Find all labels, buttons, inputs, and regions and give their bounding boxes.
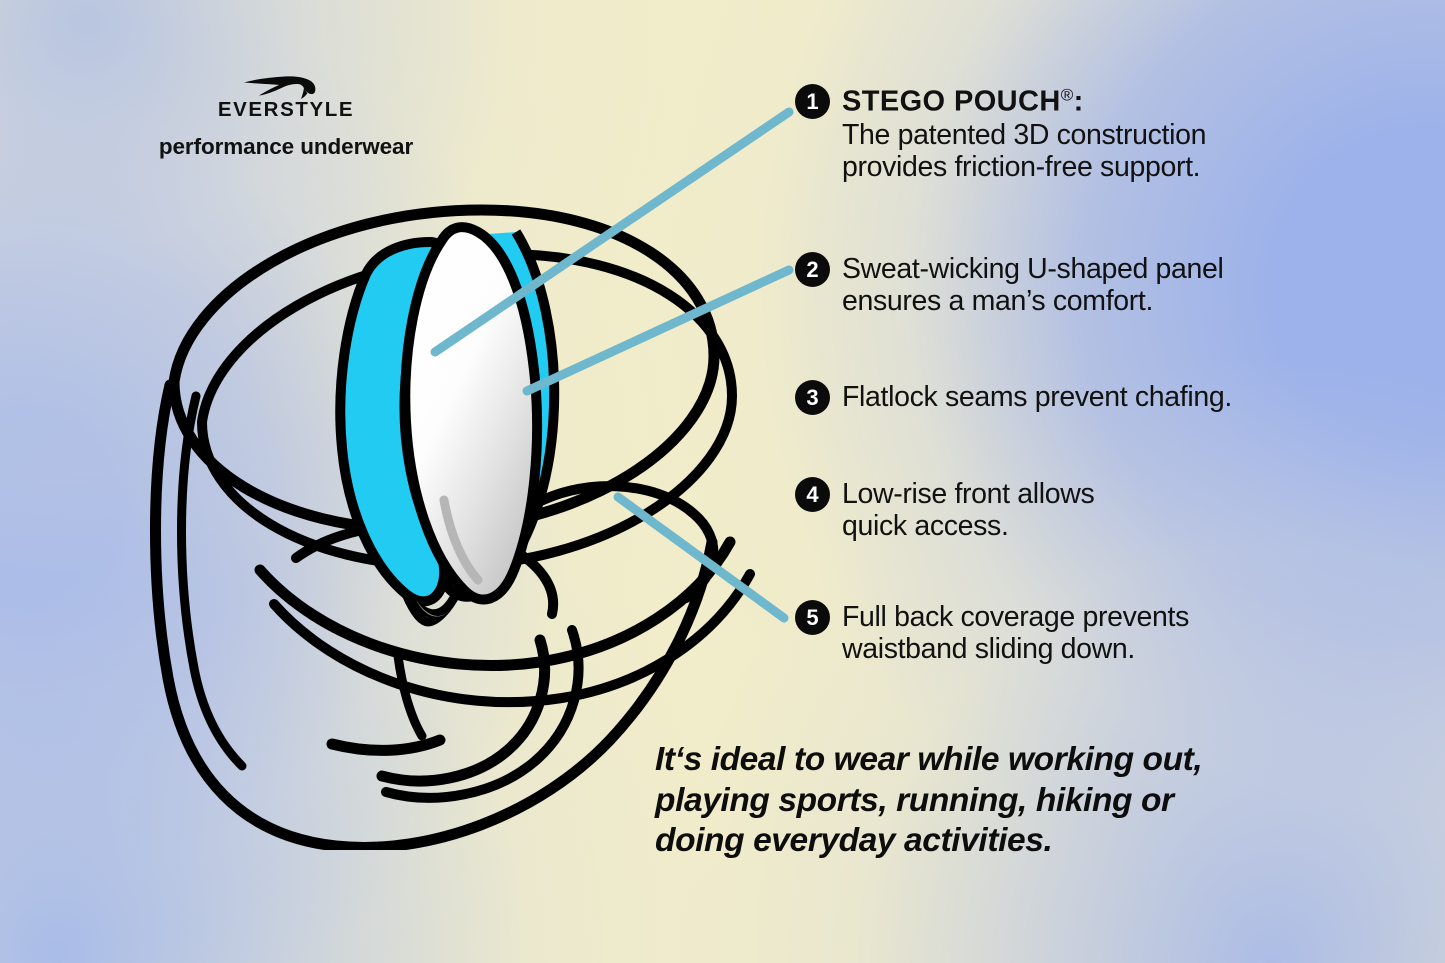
feature-badge-2: 2 [795,252,830,287]
infographic-canvas: EVERSTYLE performance underwear [0,0,1445,963]
feature-text-5: Full back coverage prevents waistband sl… [842,600,1189,666]
slogan-line: doing everyday activities. [655,821,1355,862]
center-seam [398,656,422,736]
brand-logo: EVERSTYLE performance underwear [151,72,421,158]
feature-badge-1: 1 [795,84,830,119]
feature-badge-5: 5 [795,600,830,635]
feature-title-1: STEGO POUCH [842,86,1061,118]
leg-opening-right [528,486,713,598]
feature-line: Full back coverage prevents [842,601,1189,633]
feature-line: Low-rise front allows [842,478,1094,510]
slogan-line: It‘s ideal to wear while working out, [655,740,1355,781]
feature-item-4: 4 Low-rise front allows quick access. [795,477,1094,543]
feature-title-colon-1: : [1074,86,1084,118]
feature-line: waistband sliding down. [842,633,1189,665]
feature-heading-1: STEGO POUCH®: [842,85,1206,119]
brand-name: EVERSTYLE [151,100,421,121]
feature-text-2: Sweat-wicking U-shaped panel ensures a m… [842,252,1224,318]
feature-line: Flatlock seams prevent chafing. [842,381,1232,413]
brand-tagline: performance underwear [151,136,421,159]
feature-item-1: 1 STEGO POUCH®: The patented 3D construc… [795,84,1206,184]
feature-line: ensures a man’s comfort. [842,285,1224,317]
feature-line: Sweat-wicking U-shaped panel [842,253,1224,285]
slogan-line: playing sports, running, hiking or [655,781,1355,822]
registered-trademark-icon: ® [1061,86,1074,118]
feature-badge-4: 4 [795,477,830,512]
feature-item-5: 5 Full back coverage prevents waistband … [795,600,1189,666]
feature-text-4: Low-rise front allows quick access. [842,477,1094,543]
feature-text-1: STEGO POUCH®: The patented 3D constructi… [842,84,1206,184]
feature-line: The patented 3D construction [842,119,1206,151]
feature-item-2: 2 Sweat-wicking U-shaped panel ensures a… [795,252,1224,318]
feature-line: quick access. [842,510,1094,542]
feature-text-3: Flatlock seams prevent chafing. [842,380,1232,413]
hem-detail [332,740,440,750]
feature-line: provides friction-free support. [842,151,1206,183]
feature-badge-3: 3 [795,380,830,415]
feature-item-3: 3 Flatlock seams prevent chafing. [795,380,1232,415]
slogan-block: It‘s ideal to wear while working out, pl… [655,740,1355,862]
